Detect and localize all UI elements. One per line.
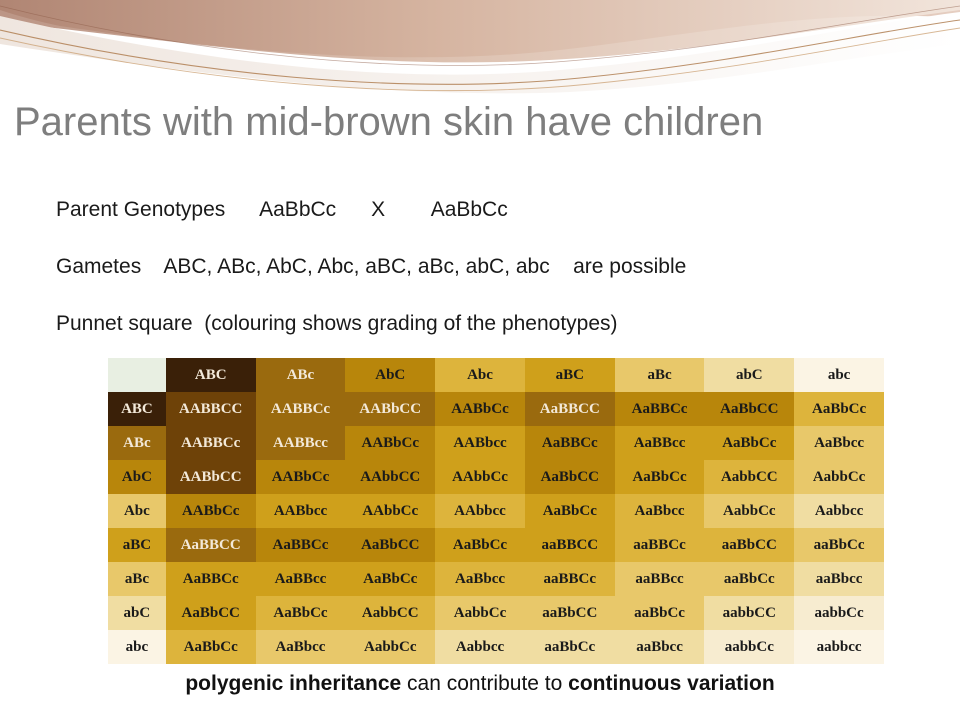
punnett-cell: AabbCc: [345, 630, 435, 664]
punnett-row-header: ABc: [108, 426, 166, 460]
punnett-cell: AABbCC: [345, 392, 435, 426]
punnett-col-header: Abc: [435, 358, 525, 392]
punnett-cell: AaBbcc: [256, 630, 346, 664]
punnett-cell: AabbCC: [704, 460, 794, 494]
punnett-cell: aabbCc: [794, 596, 884, 630]
punnett-col-header: abC: [704, 358, 794, 392]
banner-swoosh-graphic: [0, 0, 960, 96]
punnett-row: aBCAaBBCCAaBBCcAaBbCCAaBbCcaaBBCCaaBBCca…: [108, 528, 884, 562]
punnett-cell: aaBbCc: [525, 630, 615, 664]
punnett-cell: AaBBCc: [615, 392, 705, 426]
punnett-row: ABCAABBCCAABBCcAABbCCAABbCcAaBBCCAaBBCcA…: [108, 392, 884, 426]
punnett-cell: aaBBCc: [525, 562, 615, 596]
punnett-cell: aaBbCC: [704, 528, 794, 562]
punnett-row-header: abc: [108, 630, 166, 664]
punnett-row-header: aBC: [108, 528, 166, 562]
punnett-cell: aaBbCc: [794, 528, 884, 562]
punnett-cell: aabbCC: [704, 596, 794, 630]
punnett-cell: aaBbCc: [615, 596, 705, 630]
punnett-cell: aaBbcc: [615, 630, 705, 664]
punnett-cell: AaBbCC: [345, 528, 435, 562]
punnett-cell: AABbCC: [166, 460, 256, 494]
punnett-cell: AABBCC: [166, 392, 256, 426]
punnett-cell: AaBbCc: [704, 426, 794, 460]
punnett-cell: AaBbcc: [435, 562, 525, 596]
punnett-cell: AABbCc: [435, 392, 525, 426]
punnett-cell: AABbCc: [166, 494, 256, 528]
punnett-cell: AaBbCc: [256, 596, 346, 630]
punnett-cell: AaBbCC: [525, 460, 615, 494]
punnett-cell: aaBbcc: [794, 562, 884, 596]
punnett-cell: aabbcc: [794, 630, 884, 664]
punnett-square-caption: Punnet square (colouring shows grading o…: [56, 312, 618, 336]
punnett-cell: AAbbCc: [345, 494, 435, 528]
footer-mid-text: can contribute to: [401, 672, 568, 695]
punnett-cell: Aabbcc: [794, 494, 884, 528]
punnett-row: AbcAABbCcAABbccAAbbCcAAbbccAaBbCcAaBbccA…: [108, 494, 884, 528]
decorative-banner: [0, 0, 960, 96]
punnett-cell: Aabbcc: [435, 630, 525, 664]
punnett-row-header: ABC: [108, 392, 166, 426]
punnett-cell: AABBCc: [256, 392, 346, 426]
punnett-cell: AaBbCC: [166, 596, 256, 630]
punnett-cell: AabbCc: [435, 596, 525, 630]
punnett-cell: AaBBCc: [166, 562, 256, 596]
punnett-cell: AabbCC: [345, 596, 435, 630]
punnett-row-header: AbC: [108, 460, 166, 494]
punnett-corner-cell: [108, 358, 166, 392]
punnett-cell: aabbCc: [704, 630, 794, 664]
punnett-cell: AaBBCC: [166, 528, 256, 562]
punnett-square-table: ABCABcAbCAbcaBCaBcabCabcABCAABBCCAABBCcA…: [108, 358, 884, 664]
punnett-cell: AabbCc: [794, 460, 884, 494]
punnett-col-header: aBC: [525, 358, 615, 392]
punnett-cell: AABbCc: [256, 460, 346, 494]
punnett-col-header: ABc: [256, 358, 346, 392]
punnett-cell: aaBBCc: [615, 528, 705, 562]
punnett-cell: AABbcc: [256, 494, 346, 528]
punnett-cell: AaBBcc: [615, 426, 705, 460]
punnett-cell: AABbcc: [435, 426, 525, 460]
punnett-col-header: abc: [794, 358, 884, 392]
punnett-row: aBcAaBBCcAaBBccAaBbCcAaBbccaaBBCcaaBBcca…: [108, 562, 884, 596]
punnett-cell: AAbbCC: [345, 460, 435, 494]
punnett-cell: aaBbCC: [525, 596, 615, 630]
punnett-cell: AaBBCc: [525, 426, 615, 460]
punnett-cell: aaBBcc: [615, 562, 705, 596]
punnett-cell: AaBbCc: [615, 460, 705, 494]
punnett-cell: AaBbcc: [615, 494, 705, 528]
punnett-cell: AabbCc: [704, 494, 794, 528]
punnett-cell: AaBbcc: [794, 426, 884, 460]
parent-genotypes-line: Parent Genotypes AaBbCc X AaBbCc: [56, 198, 508, 222]
punnett-cell: AaBBcc: [256, 562, 346, 596]
footer-bold-continuous: continuous variation: [568, 672, 775, 695]
punnett-cell: AaBbCc: [345, 562, 435, 596]
punnett-col-header: aBc: [615, 358, 705, 392]
punnett-row: abCAaBbCCAaBbCcAabbCCAabbCcaaBbCCaaBbCca…: [108, 596, 884, 630]
punnett-cell: AaBBCC: [525, 392, 615, 426]
punnett-cell: AABBCc: [166, 426, 256, 460]
gametes-line: Gametes ABC, ABc, AbC, Abc, aBC, aBc, ab…: [56, 255, 686, 279]
punnett-row: ABcAABBCcAABBccAABbCcAABbccAaBBCcAaBBccA…: [108, 426, 884, 460]
footer-note: polygenic inheritance can contribute to …: [0, 672, 960, 696]
punnett-cell: AaBBCc: [256, 528, 346, 562]
punnett-col-header: AbC: [345, 358, 435, 392]
punnett-cell: aaBBCC: [525, 528, 615, 562]
punnett-cell: AAbbcc: [435, 494, 525, 528]
punnett-row-header: abC: [108, 596, 166, 630]
punnett-cell: AABBcc: [256, 426, 346, 460]
punnett-header-row: ABCABcAbCAbcaBCaBcabCabc: [108, 358, 884, 392]
punnett-cell: AABbCc: [345, 426, 435, 460]
punnett-square-table-wrap: ABCABcAbCAbcaBCaBcabCabcABCAABBCCAABBCcA…: [108, 358, 884, 663]
page-title: Parents with mid-brown skin have childre…: [14, 100, 944, 145]
punnett-cell: AaBbCc: [525, 494, 615, 528]
punnett-row: AbCAABbCCAABbCcAAbbCCAAbbCcAaBbCCAaBbCcA…: [108, 460, 884, 494]
footer-bold-polygenic: polygenic inheritance: [185, 672, 401, 695]
punnett-cell: AaBbCc: [166, 630, 256, 664]
punnett-col-header: ABC: [166, 358, 256, 392]
punnett-row: abcAaBbCcAaBbccAabbCcAabbccaaBbCcaaBbcca…: [108, 630, 884, 664]
punnett-cell: AaBbCc: [794, 392, 884, 426]
punnett-cell: AaBbCc: [435, 528, 525, 562]
slide: Parents with mid-brown skin have childre…: [0, 0, 960, 720]
punnett-cell: AaBbCC: [704, 392, 794, 426]
punnett-row-header: Abc: [108, 494, 166, 528]
punnett-cell: AAbbCc: [435, 460, 525, 494]
punnett-cell: aaBbCc: [704, 562, 794, 596]
punnett-row-header: aBc: [108, 562, 166, 596]
